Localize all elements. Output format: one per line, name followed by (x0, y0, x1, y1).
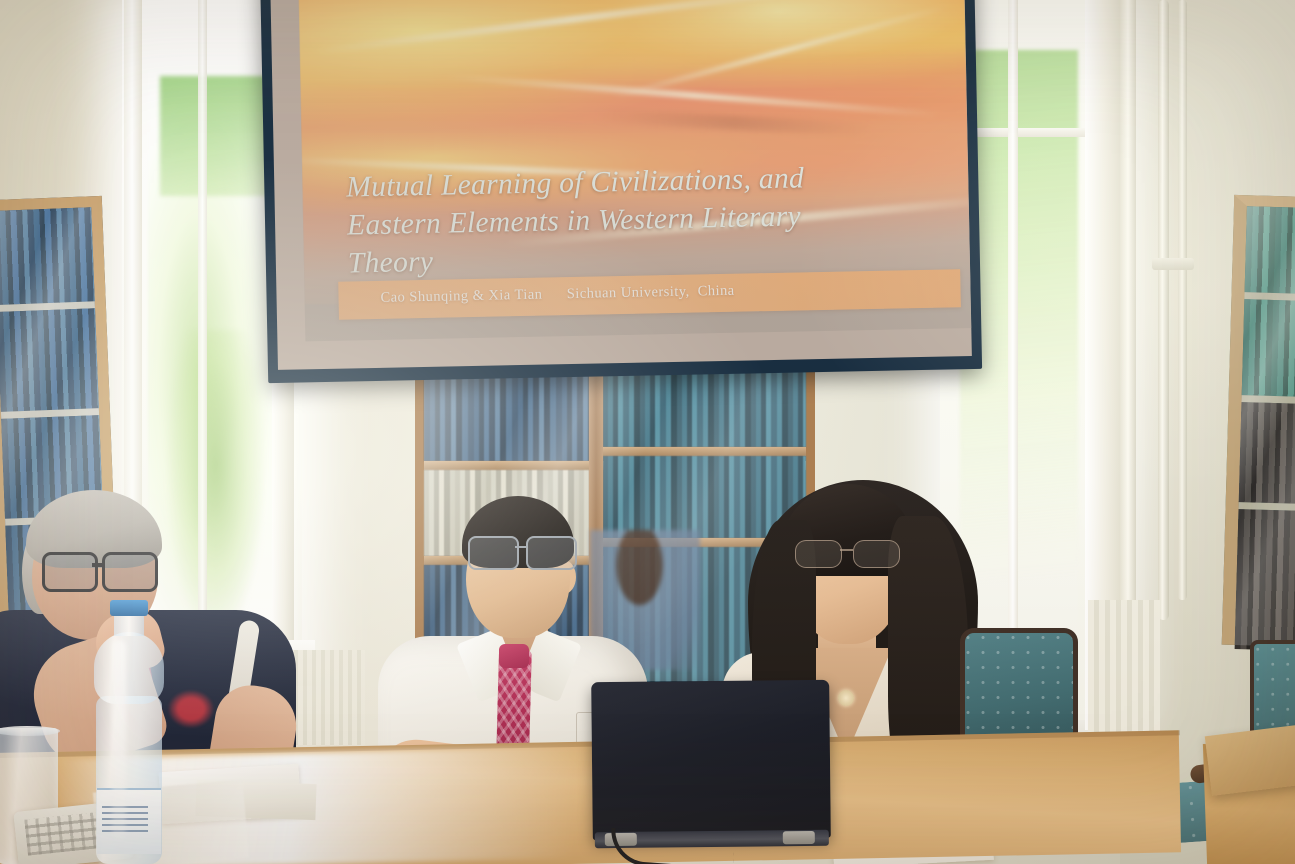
necklace-pendant (838, 690, 854, 706)
book-row (603, 369, 806, 447)
book-row (0, 308, 99, 412)
book-row (1235, 509, 1295, 651)
projection-screen: Mutual Learning of Civilizations, and Ea… (260, 0, 982, 383)
artwork-shadow (594, 109, 874, 137)
bookcase-right (1222, 195, 1295, 647)
glasses-icon (795, 540, 903, 568)
glasses-bridge (840, 549, 853, 551)
bottle-shoulder (94, 632, 164, 704)
wall-pipe (1158, 0, 1169, 620)
attendee-left-shirt-logo (168, 690, 214, 728)
window-left-mullion (198, 0, 207, 690)
glasses-bridge (515, 546, 526, 548)
wall-upper-left (0, 0, 130, 210)
laptop[interactable] (591, 680, 831, 840)
glasses-lens-right (853, 540, 900, 568)
water-bottle[interactable] (88, 600, 168, 864)
book-row (1239, 402, 1295, 504)
artwork-streak (611, 5, 947, 100)
glasses-lens-left (795, 540, 842, 568)
slide-title: Mutual Learning of Civilizations, and Ea… (346, 158, 908, 282)
window-right-mullion (1008, 0, 1018, 660)
book-row (0, 207, 95, 305)
glasses-lens-right (102, 552, 158, 592)
glasses-lens-right (526, 536, 577, 570)
glasses-bridge (92, 563, 103, 567)
bottle-neck (114, 614, 144, 636)
shelf (603, 447, 806, 456)
bottle-highlight (112, 640, 126, 840)
presentation-photo: Mutual Learning of Civilizations, and Ea… (0, 0, 1295, 864)
side-table (1205, 724, 1295, 796)
screen-surface: Mutual Learning of Civilizations, and Ea… (270, 0, 972, 370)
slide: Mutual Learning of Civilizations, and Ea… (298, 0, 971, 341)
glasses-lens-left (42, 552, 98, 592)
glasses-icon (468, 536, 580, 568)
book-row (424, 369, 589, 461)
glasses-icon (42, 552, 160, 588)
glasses-lens-left (468, 536, 519, 570)
slide-authors: Cao Shunqing & Xia Tian Sichuan Universi… (380, 283, 734, 307)
bottle-cap (110, 600, 148, 616)
wall-pipe-joint (1152, 258, 1194, 270)
artwork-streak (448, 74, 940, 117)
artwork-streak (314, 0, 830, 55)
wall-pipe-secondary (1178, 0, 1187, 600)
laptop-lid (591, 680, 831, 840)
speaker-center-necktie-knot (499, 644, 529, 668)
window-left-foliage (168, 330, 264, 630)
book-row (1242, 299, 1295, 397)
laptop-foot-right (783, 831, 815, 844)
book-row (1245, 206, 1295, 294)
